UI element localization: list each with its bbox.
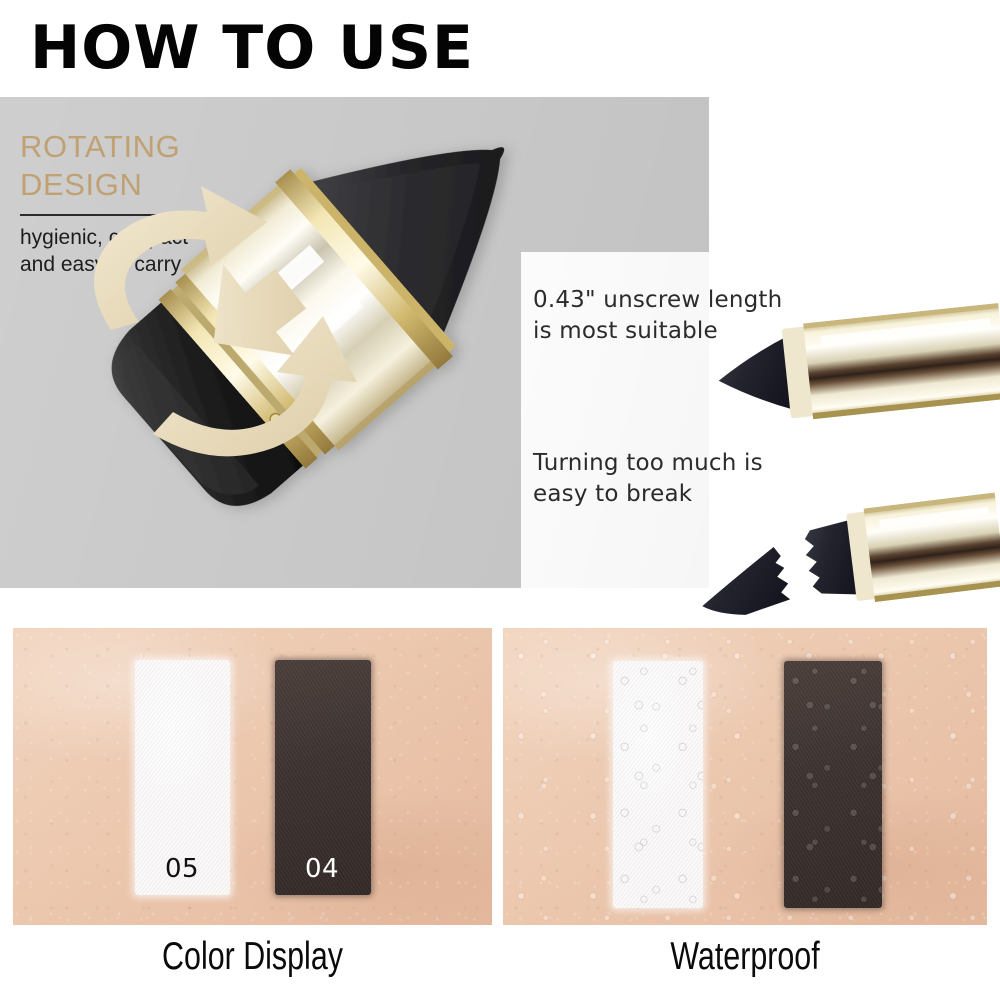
callout-unscrew-length: 0.43" unscrew length is most suitable [533, 285, 782, 347]
gray-backdrop-bottom [0, 251, 521, 588]
pencil-broken-tip-illustration [690, 492, 1000, 627]
heading-divider [20, 214, 276, 216]
caption-waterproof: Waterproof [556, 932, 934, 982]
swatch-waterproof-dark [784, 661, 882, 908]
skin-background [13, 628, 492, 925]
page-title: HOW TO USE [30, 14, 474, 82]
rotating-design-heading: ROTATING DESIGN [20, 128, 310, 204]
swatch-label-04: 04 [305, 856, 339, 882]
rotating-design-block: ROTATING DESIGN hygienic, compact and ea… [20, 128, 310, 278]
color-display-photo: 05 04 [13, 628, 492, 925]
waterproof-photo [503, 628, 987, 925]
caption-color-display: Color Display [66, 932, 440, 982]
swatch-waterproof-light [613, 661, 703, 908]
callout-turning-too-much: Turning too much is easy to break [533, 448, 763, 510]
rotating-design-subtext: hygienic, compact and easy to carry [20, 224, 310, 278]
swatch-label-05: 05 [165, 856, 199, 882]
skin-background-wet [503, 628, 987, 925]
